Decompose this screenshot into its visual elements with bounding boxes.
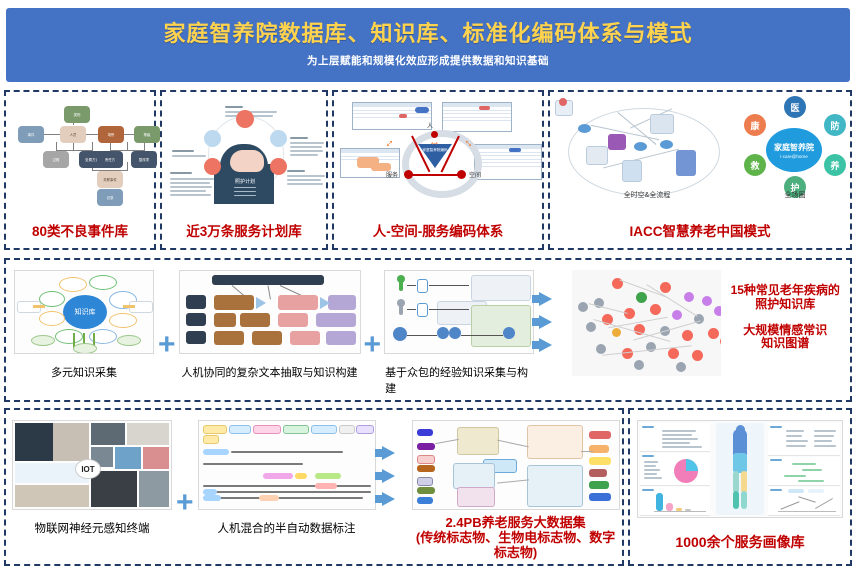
- text-extraction-flow: [179, 270, 361, 354]
- knowledge-network-graph: [572, 270, 720, 376]
- slide-root: 家庭智养院数据库、知识库、标准化编码体系与模式 为上层赋能和规模化效应形成提供数…: [0, 0, 856, 570]
- hub-center: 家庭智养院 i-care@home: [766, 128, 822, 172]
- pipeline-step-2: 人机协同的复杂文本抽取与知识构建: [180, 270, 360, 380]
- page-title: 家庭智养院数据库、知识库、标准化编码体系与模式: [163, 22, 692, 46]
- crowdsourcing-flow: [384, 270, 534, 354]
- step-caption: 人机混合的半自动数据标注: [218, 520, 356, 536]
- hub-item-yang[interactable]: 养: [824, 154, 846, 176]
- right-arrow-icon: [382, 446, 395, 460]
- hub-label: 全场圈: [758, 190, 832, 200]
- result-captions: 15种常见老年疾病的 照护知识库 大规模情感常识 知识图谱: [729, 284, 843, 351]
- right-arrow-icon: [382, 469, 395, 483]
- panel-knowledge-pipeline[interactable]: 知识库: [4, 258, 852, 402]
- flowchart-diagram: 事件 人员 场所 类别 等级 过程 处置方式 责任方 整改项 关联事件 记录: [6, 98, 154, 206]
- network-and-hub: 全时空&全流程 家庭智养院 i-care@home 医 防 养 护 救 康 全场…: [550, 92, 850, 208]
- step-caption: 多元知识采集: [51, 364, 117, 380]
- plus-separator: +: [158, 330, 176, 360]
- annotation-step: 人机混合的半自动数据标注: [198, 420, 376, 536]
- right-arrow-icon: [539, 338, 552, 352]
- plan-icon: [236, 110, 254, 128]
- network-label: 全时空&全流程: [594, 190, 700, 200]
- flow-node: 过程: [43, 151, 69, 168]
- result-caption-line2: 照护知识库: [729, 298, 843, 312]
- gear-icon: [270, 130, 287, 147]
- panel-caption: 80类不良事件库: [6, 224, 154, 240]
- iot-photo-collage: IOT: [12, 420, 172, 510]
- pipeline-step-3: 基于众包的经验知识采集与构建: [385, 270, 533, 396]
- triangle-center-label: 家庭智养院编码: [418, 148, 452, 152]
- flow-node: 关联事件: [97, 171, 123, 188]
- flow-node: 整改项: [131, 151, 157, 168]
- row-knowledge-graph: 知识库: [4, 258, 852, 402]
- brain-center-label: 照护计划: [224, 178, 266, 185]
- dataset-caption-line2: (传统标志物、生物电标志物、数字标志物): [412, 531, 620, 561]
- knowledge-base-hub: 知识库: [14, 270, 154, 354]
- panel-iacc-model[interactable]: 全时空&全流程 家庭智养院 i-care@home 医 防 养 护 救 康 全场…: [548, 90, 852, 250]
- pipeline-step-1: 知识库: [14, 270, 154, 380]
- service-mindmap: [412, 420, 620, 510]
- mindmap-result: 2.4PB养老服务大数据集 (传统标志物、生物电标志物、数字标志物): [412, 420, 620, 561]
- result-caption-line4: 知识图谱: [729, 337, 843, 351]
- header-banner: 家庭智养院数据库、知识库、标准化编码体系与模式 为上层赋能和规模化效应形成提供数…: [6, 8, 850, 82]
- panel-adverse-event-library[interactable]: 事件 人员 场所 类别 等级 过程 处置方式 责任方 整改项 关联事件 记录 8…: [4, 90, 156, 250]
- hub-item-jiu[interactable]: 救: [744, 154, 766, 176]
- target-icon: [204, 130, 221, 147]
- step-caption: 基于众包的经验知识采集与构建: [385, 364, 533, 396]
- flow-node: 类别: [64, 106, 90, 123]
- flow-node: 责任方: [97, 151, 123, 168]
- step-caption: 人机协同的复杂文本抽取与知识构建: [182, 364, 358, 380]
- arrow-group: [382, 446, 395, 506]
- step-caption: 物联网神经元感知终端: [35, 520, 150, 536]
- kb-center-label: 知识库: [63, 307, 107, 317]
- right-arrow-icon: [382, 492, 395, 506]
- flow-node: 等级: [134, 126, 160, 143]
- right-arrow-icon: [539, 292, 552, 306]
- dataset-caption-line1: 2.4PB养老服务大数据集: [445, 516, 585, 531]
- panel-caption: IACC智慧养老中国模式: [550, 224, 850, 240]
- panel-caption: 人-空间-服务编码体系: [334, 224, 542, 240]
- panel-service-profile[interactable]: 1000余个服务画像库: [628, 408, 852, 566]
- iot-badge: IOT: [75, 459, 101, 479]
- arrow-group: [539, 292, 552, 352]
- hub-item-yi[interactable]: 医: [784, 96, 806, 118]
- page-subtitle: 为上层赋能和规模化效应形成提供数据和知识基础: [307, 53, 549, 68]
- plus-separator: +: [176, 488, 194, 518]
- flow-node: 场所: [98, 126, 124, 143]
- flow-node: 事件: [18, 126, 44, 143]
- hub-subtitle: i-care@home: [780, 154, 808, 159]
- panel-coding-system[interactable]: 人 服务 空间 家庭智养院编码 ↔ ↔ ↔ 人-空间-服务编码体系: [332, 90, 544, 250]
- head-brain-infographic: 照护计划: [162, 92, 326, 204]
- hub-title: 家庭智养院: [774, 142, 814, 153]
- iot-step: IOT 物联网神经元感知终端: [12, 420, 172, 536]
- service-profile-dashboard: [637, 420, 843, 518]
- vertex-label-service: 服务: [386, 170, 398, 179]
- hub-item-fang[interactable]: 防: [824, 114, 846, 136]
- idea-icon: [204, 158, 221, 175]
- row-big-data: IOT 物联网神经元感知终端 +: [4, 408, 852, 566]
- panel-caption: 近3万条服务计划库: [162, 224, 326, 240]
- plus-separator: +: [364, 330, 382, 360]
- triangle-coding-system: 人 服务 空间 家庭智养院编码 ↔ ↔ ↔: [334, 92, 542, 204]
- hub-item-kang[interactable]: 康: [744, 114, 766, 136]
- flow-node: 人员: [60, 126, 86, 143]
- alert-icon: [270, 158, 287, 175]
- panel-big-dataset[interactable]: IOT 物联网神经元感知终端 +: [4, 408, 624, 566]
- vertex-label-space: 空间: [469, 170, 481, 179]
- vertex-label-person: 人: [427, 121, 433, 130]
- flow-node: 记录: [97, 189, 123, 206]
- right-arrow-icon: [539, 315, 552, 329]
- result-caption-line1: 15种常见老年疾病的: [729, 284, 843, 298]
- panel-caption: 1000余个服务画像库: [675, 534, 804, 550]
- panel-service-plan-library[interactable]: 照护计划 近3万条服务计划库: [160, 90, 328, 250]
- annotation-ui: [198, 420, 376, 510]
- row-databases: 事件 人员 场所 类别 等级 过程 处置方式 责任方 整改项 关联事件 记录 8…: [4, 90, 852, 250]
